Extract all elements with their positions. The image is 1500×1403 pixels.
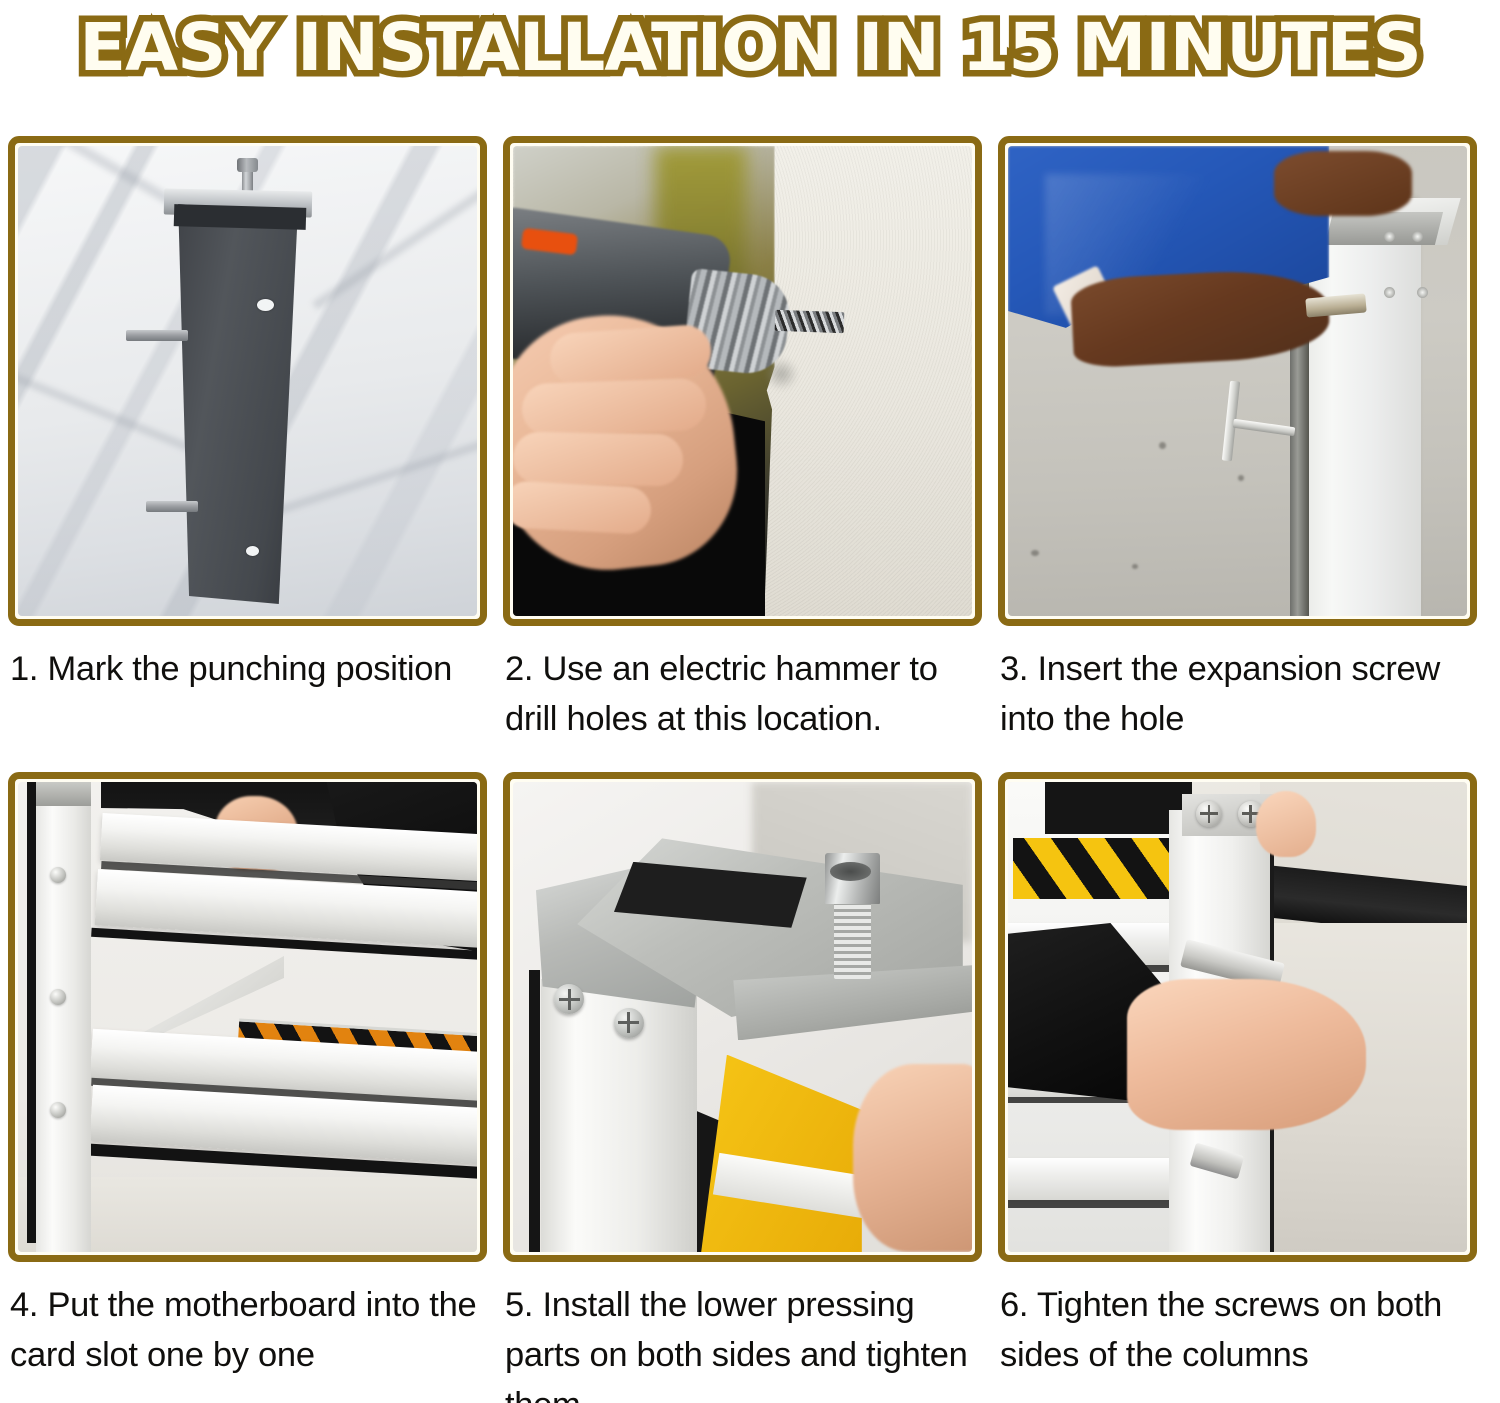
page-title-banner: EASY INSTALLATION IN 15 MINUTES [0, 0, 1500, 96]
top-bolt-head [237, 158, 258, 172]
finger [521, 378, 706, 436]
step-5-photo [513, 782, 972, 1252]
step-3-image-cell [998, 136, 1477, 626]
step-3-caption: 3. Insert the expansion screw into the h… [1000, 644, 1476, 744]
steps-grid: 1. Mark the punching position [8, 136, 1494, 1394]
column-top-cap [36, 782, 91, 806]
step-2-photo [513, 146, 972, 616]
worker-thumb [1256, 791, 1316, 857]
step-3-photo-frame [998, 136, 1477, 626]
worker-hand [1127, 979, 1366, 1129]
step-1-caption-cell: 1. Mark the punching position [8, 626, 487, 772]
step-3-caption-cell: 3. Insert the expansion screw into the h… [998, 626, 1477, 772]
column-screw [50, 989, 66, 1005]
step-4-caption: 4. Put the motherboard into the card slo… [10, 1280, 486, 1380]
pressing-bolt-thread [834, 895, 871, 980]
column-shadow-edge [529, 970, 540, 1252]
finger [513, 431, 683, 486]
page-title: EASY INSTALLATION IN 15 MINUTES [79, 13, 1421, 83]
marking-rod-lower [146, 501, 198, 512]
column-screw [1417, 287, 1428, 298]
marking-rod-upper [126, 330, 188, 341]
punch-mark-hole-lower [246, 546, 259, 556]
column-screw [50, 1102, 66, 1118]
board-rail [1008, 1158, 1192, 1200]
step-6-image-cell [998, 772, 1477, 1262]
step-4-photo [18, 782, 477, 1252]
finger [513, 481, 652, 536]
column-screw [1412, 231, 1423, 242]
step-3-photo [1008, 146, 1467, 616]
installation-guide-page: EASY INSTALLATION IN 15 MINUTES [0, 0, 1500, 1403]
step-5-caption-cell: 5. Install the lower pressing parts on b… [503, 1262, 982, 1394]
step-4-photo-frame [8, 772, 487, 1262]
pressing-bolt-socket [830, 862, 871, 881]
cross-head-screw [614, 1008, 644, 1038]
cross-head-screw [1196, 801, 1222, 827]
step-1-image-cell [8, 136, 487, 626]
step-4-caption-cell: 4. Put the motherboard into the card slo… [8, 1262, 487, 1394]
template-top-shadow [174, 204, 307, 230]
step-5-photo-frame [503, 772, 982, 1262]
step-2-image-cell [503, 136, 982, 626]
worker-upper-arm [1274, 151, 1412, 217]
column-screw [1384, 231, 1395, 242]
drilling-dust [765, 358, 797, 391]
step-6-photo-frame [998, 772, 1477, 1262]
drill-bit [774, 309, 844, 333]
step-6-caption-cell: 6. Tighten the screws on both sides of t… [998, 1262, 1477, 1394]
step-2-photo-frame [503, 136, 982, 626]
punch-mark-hole-upper [257, 299, 274, 311]
step-6-photo [1008, 782, 1467, 1252]
step-1-photo [18, 146, 477, 616]
floor-debris [1238, 475, 1244, 481]
hazard-stripe-tape [1013, 838, 1178, 899]
step-6-caption: 6. Tighten the screws on both sides of t… [1000, 1280, 1476, 1380]
step-1-photo-frame [8, 136, 487, 626]
column-screw [50, 867, 66, 883]
rail-groove [1008, 1200, 1192, 1208]
worker-hand [853, 1064, 972, 1252]
upright-column [36, 782, 91, 1252]
step-1-caption: 1. Mark the punching position [10, 644, 486, 694]
step-4-image-cell [8, 772, 487, 1262]
step-2-caption: 2. Use an electric hammer to drill holes… [505, 644, 981, 744]
step-5-image-cell [503, 772, 982, 1262]
step-5-caption: 5. Install the lower pressing parts on b… [505, 1280, 981, 1403]
step-2-caption-cell: 2. Use an electric hammer to drill holes… [503, 626, 982, 772]
